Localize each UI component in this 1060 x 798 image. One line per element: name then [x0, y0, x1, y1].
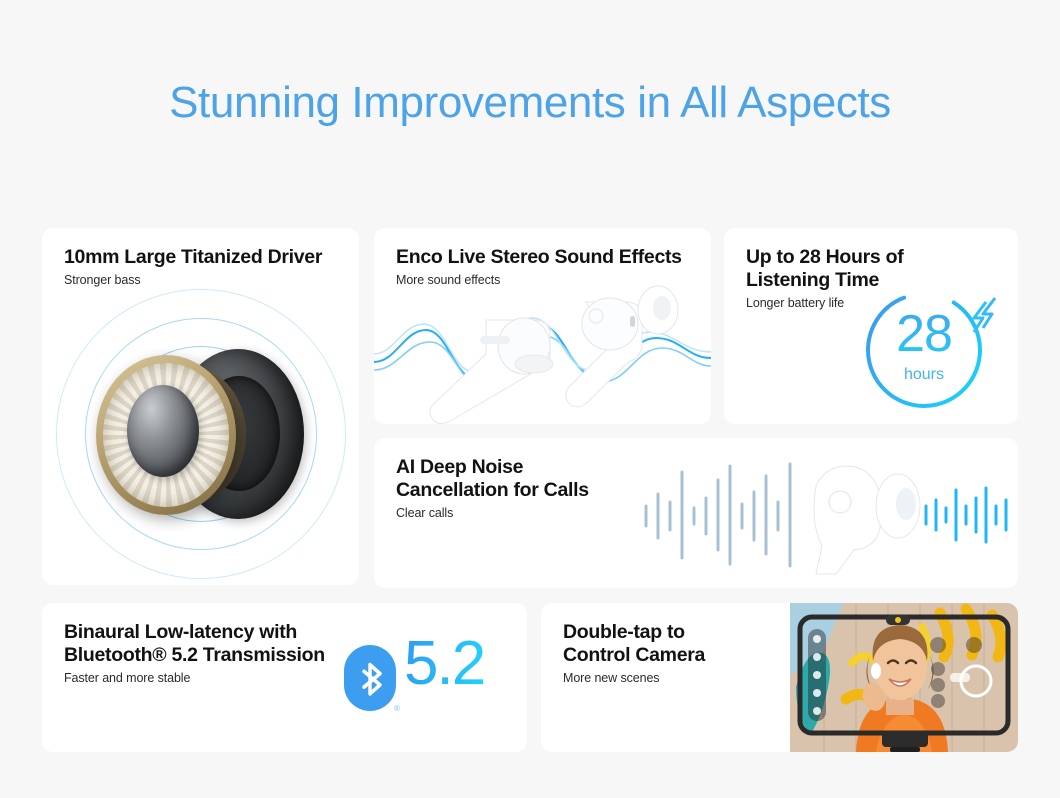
card-header: Up to 28 Hours of Listening Time Longer …: [746, 246, 903, 310]
svg-text:®: ®: [394, 704, 400, 713]
card-subtitle: Clear calls: [396, 506, 589, 520]
card-subtitle: Faster and more stable: [64, 671, 325, 685]
anc-waveform-earbud-icon: [640, 450, 1010, 578]
card-header: Binaural Low-latency with Bluetooth® 5.2…: [64, 621, 325, 685]
card-header: Enco Live Stereo Sound Effects More soun…: [396, 246, 682, 287]
bluetooth-version-label: 5.2: [404, 633, 484, 695]
card-subtitle: Stronger bass: [64, 273, 322, 287]
battery-hours-unit: hours: [862, 366, 986, 384]
card-title: Up to 28 Hours of Listening Time: [746, 246, 903, 292]
bluetooth-icon: ®: [342, 643, 402, 717]
card-header: 10mm Large Titanized Driver Stronger bas…: [64, 246, 322, 287]
card-title: Enco Live Stereo Sound Effects: [396, 246, 682, 269]
bluetooth-version-badge: ® 5.2: [342, 641, 517, 717]
feature-card-driver: 10mm Large Titanized Driver Stronger bas…: [42, 228, 359, 585]
earbuds-sound-waves-icon: [374, 284, 711, 424]
driver-assembly: [96, 345, 306, 523]
speaker-driver-icon: [42, 282, 359, 585]
card-title: Binaural Low-latency with Bluetooth® 5.2…: [64, 621, 325, 667]
card-header: AI Deep Noise Cancellation for Calls Cle…: [396, 456, 589, 520]
feature-card-stereo: Enco Live Stereo Sound Effects More soun…: [374, 228, 711, 424]
card-subtitle: Longer battery life: [746, 296, 903, 310]
driver-dome: [127, 385, 199, 477]
card-title: 10mm Large Titanized Driver: [64, 246, 322, 269]
card-header: Double-tap to Control Camera More new sc…: [563, 621, 705, 685]
card-subtitle: More sound effects: [396, 273, 682, 287]
battery-hours-value: 28: [862, 308, 986, 360]
feature-card-camera: Double-tap to Control Camera More new sc…: [541, 603, 1018, 752]
page-title: Stunning Improvements in All Aspects: [0, 78, 1060, 128]
card-title: AI Deep Noise Cancellation for Calls: [396, 456, 589, 502]
feature-card-battery: Up to 28 Hours of Listening Time Longer …: [724, 228, 1018, 424]
feature-card-bluetooth: Binaural Low-latency with Bluetooth® 5.2…: [42, 603, 527, 752]
selfie-photo: [790, 603, 1018, 752]
card-subtitle: More new scenes: [563, 671, 705, 685]
card-title: Double-tap to Control Camera: [563, 621, 705, 667]
feature-card-anc: AI Deep Noise Cancellation for Calls Cle…: [374, 438, 1018, 588]
